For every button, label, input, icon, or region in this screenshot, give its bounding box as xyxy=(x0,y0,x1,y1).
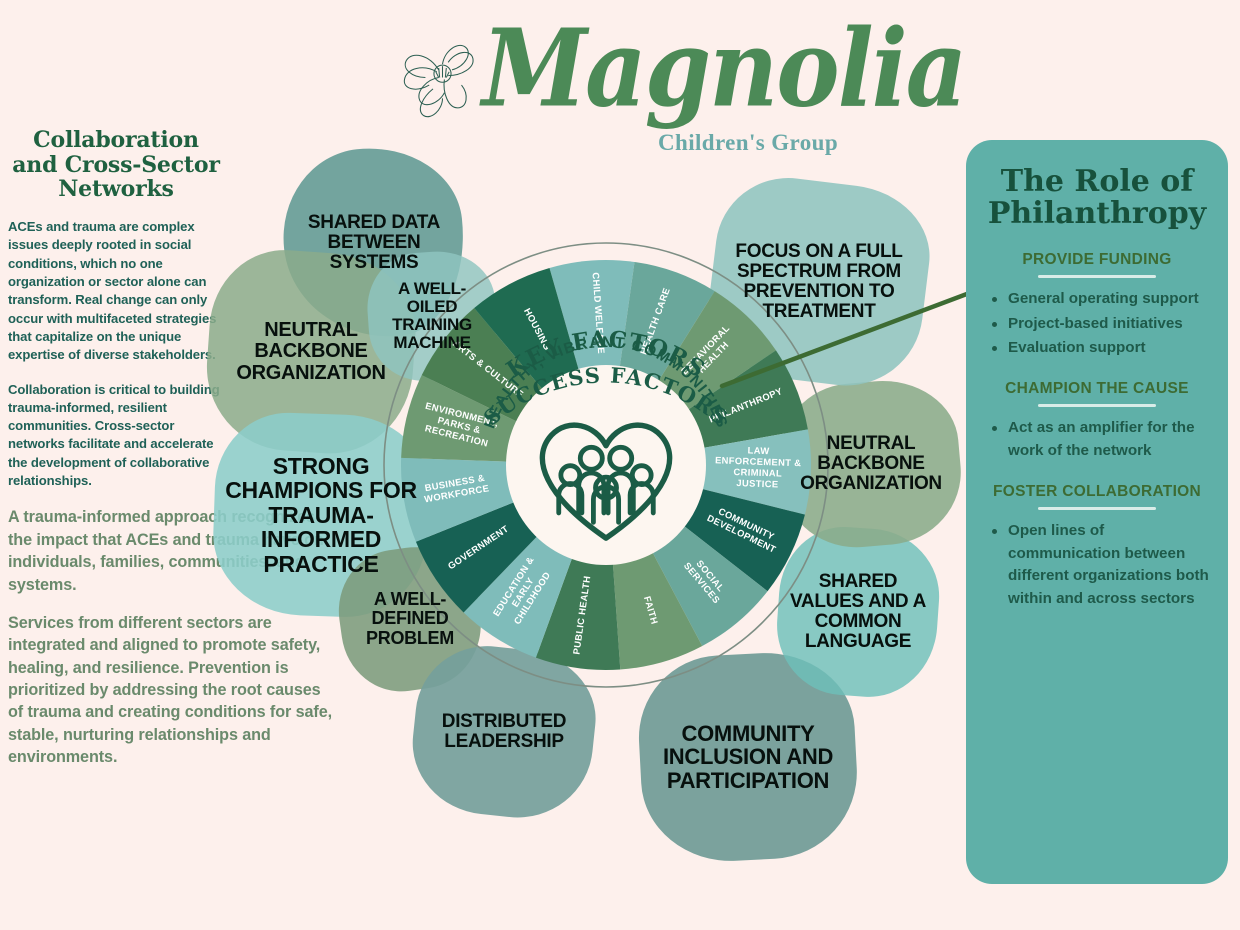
left-column: Collaboration and Cross-Sector Networks … xyxy=(8,128,224,784)
success-factor-label: NEUTRAL BACKBONE ORGANIZATION xyxy=(782,434,960,494)
left-paragraph-4: Services from different sectors are inte… xyxy=(8,612,338,769)
philanthropy-section-heading: FOSTER COLLABORATION xyxy=(980,483,1214,501)
success-factor-label: STRONG CHAMPIONS FOR TRAUMA-INFORMED PRA… xyxy=(214,454,428,576)
list-item: Open lines of communication between diff… xyxy=(1008,520,1210,611)
philanthropy-panel-title: The Role of Philanthropy xyxy=(966,166,1228,231)
success-factor-label: DISTRIBUTED LEADERSHIP xyxy=(414,712,594,752)
philanthropy-section: FOSTER COLLABORATIONOpen lines of commun… xyxy=(980,483,1214,611)
brand-logo: Magnolia Children's Group xyxy=(390,22,850,152)
success-factor-label: SHARED DATA BETWEEN SYSTEMS xyxy=(284,213,464,273)
success-factor-label: FOCUS ON A FULL SPECTRUM FROM PREVENTION… xyxy=(712,242,926,323)
success-factor-label: A WELL-OILED TRAINING MACHINE xyxy=(368,280,496,352)
logo-subtitle: Children's Group xyxy=(658,130,838,156)
philanthropy-section: PROVIDE FUNDINGGeneral operating support… xyxy=(980,251,1214,360)
philanthropy-bullet-list: Open lines of communication between diff… xyxy=(980,520,1214,611)
philanthropy-bullet-list: General operating supportProject-based i… xyxy=(980,288,1214,360)
list-item: Evaluation support xyxy=(1008,337,1210,360)
philanthropy-panel: The Role of Philanthropy PROVIDE FUNDING… xyxy=(966,140,1228,884)
success-factor-label: A WELL-DEFINED PROBLEM xyxy=(340,590,480,647)
philanthropy-section-heading: PROVIDE FUNDING xyxy=(980,251,1214,269)
list-item: General operating support xyxy=(1008,288,1210,311)
logo-wordmark: Magnolia xyxy=(482,16,965,122)
philanthropy-section: CHAMPION THE CAUSEAct as an amplifier fo… xyxy=(980,380,1214,463)
list-item: Project-based initiatives xyxy=(1008,313,1210,336)
section-divider xyxy=(1038,507,1156,510)
philanthropy-section-heading: CHAMPION THE CAUSE xyxy=(980,380,1214,398)
left-paragraph-2: Collaboration is critical to building tr… xyxy=(8,381,224,491)
section-divider xyxy=(1038,404,1156,407)
success-factor-label: SHARED VALUES AND A COMMON LANGUAGE xyxy=(778,572,938,653)
left-heading: Collaboration and Cross-Sector Networks xyxy=(8,128,224,202)
left-paragraph-1: ACEs and trauma are complex issues deepl… xyxy=(8,218,224,365)
philanthropy-bullet-list: Act as an amplifier for the work of the … xyxy=(980,417,1214,463)
list-item: Act as an amplifier for the work of the … xyxy=(1008,417,1210,463)
success-factor-label: COMMUNITY INCLUSION AND PARTICIPATION xyxy=(640,722,856,792)
magnolia-flower-icon xyxy=(395,30,490,125)
section-divider xyxy=(1038,275,1156,278)
